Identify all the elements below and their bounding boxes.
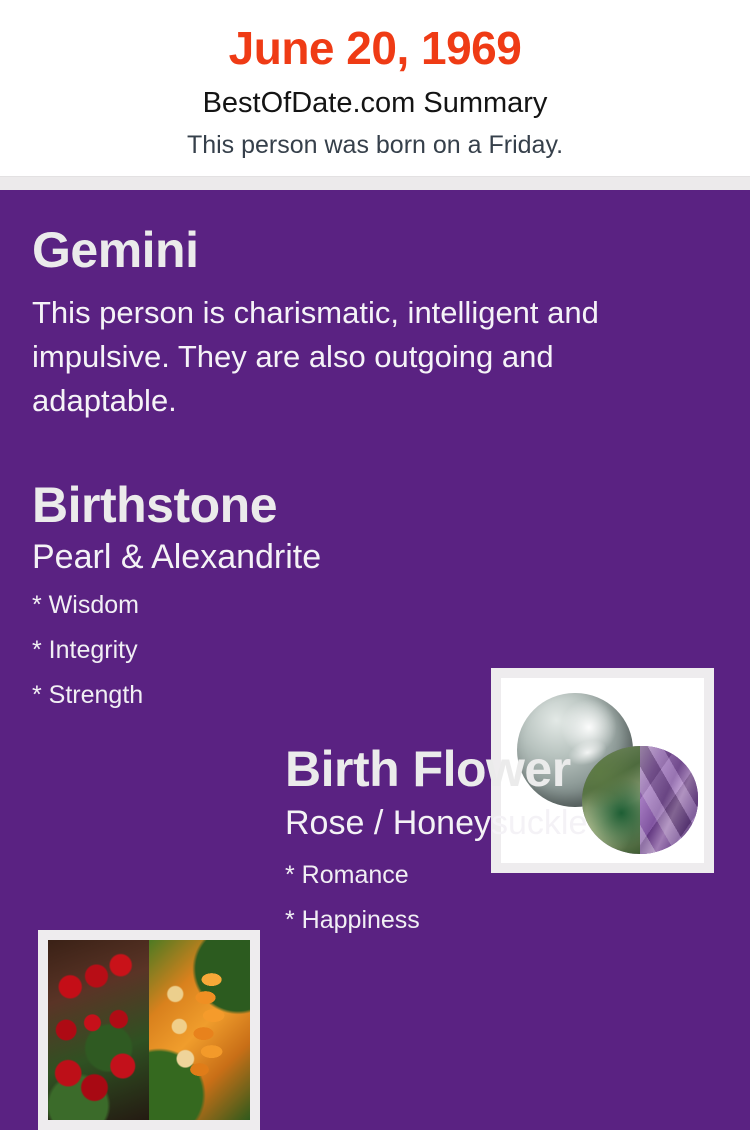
birth-flower-trait: * Happiness xyxy=(285,905,420,935)
header-divider xyxy=(0,176,750,190)
alexandrite-facet-overlay xyxy=(640,746,698,853)
birthstone-trait: * Strength xyxy=(32,680,143,710)
header: June 20, 1969 BestOfDate.com Summary Thi… xyxy=(0,0,750,176)
birth-flower-name: Rose / Honeysuckle xyxy=(285,804,587,843)
birthstone-name: Pearl & Alexandrite xyxy=(32,538,321,577)
alexandrite-rough-half xyxy=(582,746,640,853)
zodiac-sign-title: Gemini xyxy=(32,223,198,277)
red-roses-image xyxy=(48,940,149,1120)
birthstone-title: Birthstone xyxy=(32,478,277,532)
date-summary-card: June 20, 1969 BestOfDate.com Summary Thi… xyxy=(0,0,750,1000)
weekday-statement: This person was born on a Friday. xyxy=(0,130,750,160)
zodiac-description: This person is charismatic, intelligent … xyxy=(32,291,704,423)
orange-honeysuckle-image xyxy=(149,940,250,1120)
birthstone-trait: * Integrity xyxy=(32,635,138,665)
site-summary-label: BestOfDate.com Summary xyxy=(0,86,750,121)
birthstone-trait: * Wisdom xyxy=(32,590,139,620)
birth-flower-photo-inner xyxy=(48,940,250,1120)
page-title-date: June 20, 1969 xyxy=(0,22,750,75)
birth-flower-title: Birth Flower xyxy=(285,742,571,796)
summary-body: Gemini This person is charismatic, intel… xyxy=(0,190,750,1000)
birth-flower-photo xyxy=(38,930,260,1130)
alexandrite-gem-icon xyxy=(582,746,698,853)
birth-flower-trait: * Romance xyxy=(285,860,409,890)
